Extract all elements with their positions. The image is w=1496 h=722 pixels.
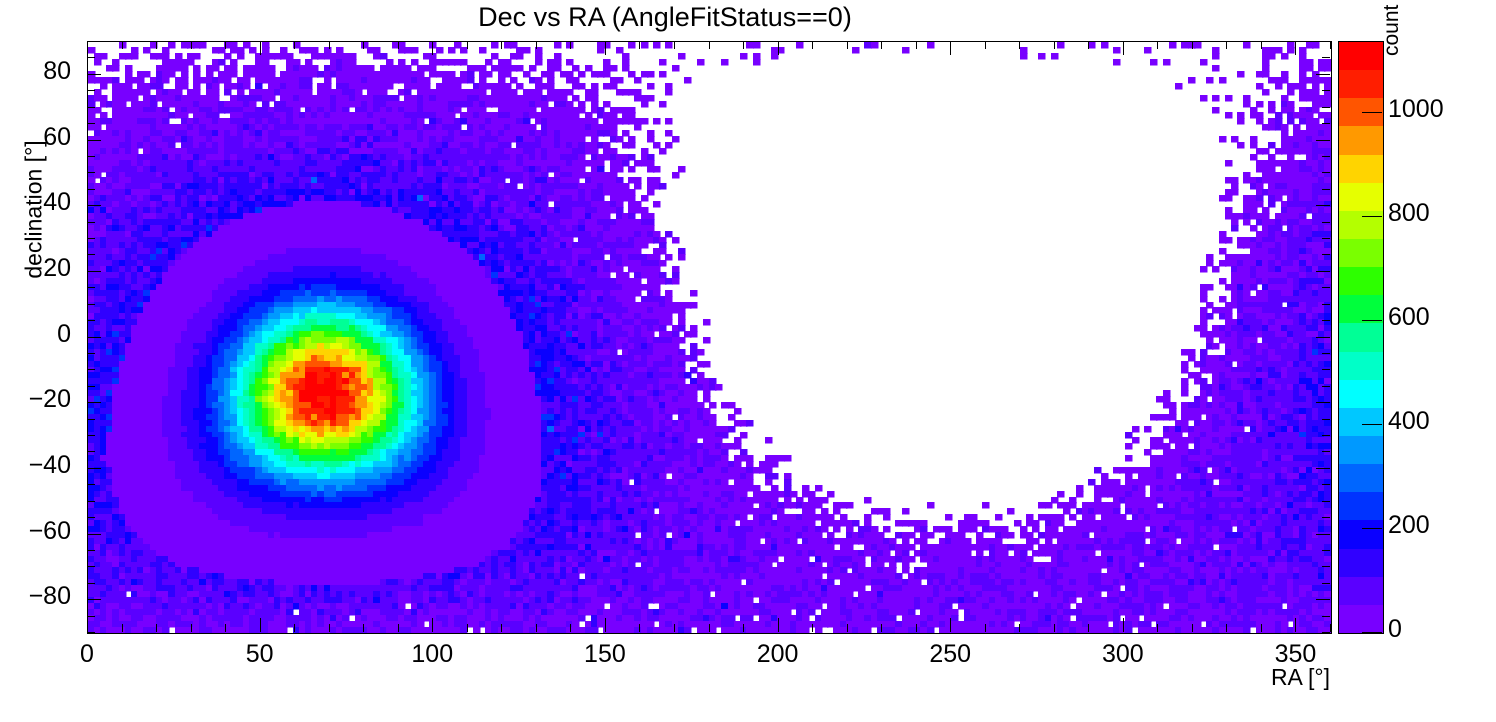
y-tick-right xyxy=(1316,468,1330,469)
y-tick xyxy=(87,566,95,567)
y-tick xyxy=(87,353,95,354)
x-tick-top xyxy=(1226,41,1227,49)
x-tick xyxy=(432,618,433,632)
x-tick-top xyxy=(225,41,226,49)
x-tick xyxy=(87,618,88,632)
x-tick xyxy=(1330,624,1331,632)
y-tick xyxy=(87,287,95,288)
palette-tick xyxy=(1362,320,1382,321)
x-tick xyxy=(122,624,123,632)
x-tick-top xyxy=(329,41,330,49)
x-tick xyxy=(156,624,157,632)
x-tick xyxy=(398,624,399,632)
x-tick-top xyxy=(363,41,364,49)
palette-tick-label: 200 xyxy=(1388,511,1430,540)
palette-band xyxy=(1339,408,1383,436)
x-tick-top xyxy=(1330,41,1331,49)
x-tick-top xyxy=(674,41,675,49)
x-tick-top xyxy=(1157,41,1158,49)
x-tick-top xyxy=(950,41,951,55)
x-tick xyxy=(225,624,226,632)
palette-band xyxy=(1339,126,1383,154)
y-tick xyxy=(87,435,95,436)
palette-tick xyxy=(1362,528,1382,529)
y-tick-right xyxy=(1316,205,1330,206)
x-tick-top xyxy=(467,41,468,49)
x-tick xyxy=(916,624,917,632)
x-tick-top xyxy=(1054,41,1055,49)
y-tick-right xyxy=(1316,74,1330,75)
x-axis-title: RA [°] xyxy=(1271,664,1330,691)
x-tick xyxy=(1054,624,1055,632)
z-axis-title: count xyxy=(1380,0,1404,56)
y-tick-right xyxy=(1322,57,1330,58)
y-tick xyxy=(87,402,101,403)
x-tick xyxy=(605,618,606,632)
y-tick xyxy=(87,468,101,469)
y-tick-right xyxy=(1316,599,1330,600)
y-tick xyxy=(87,222,95,223)
x-tick-top xyxy=(536,41,537,49)
x-tick-top xyxy=(1088,41,1089,49)
x-tick xyxy=(674,624,675,632)
x-tick xyxy=(570,624,571,632)
x-tick-top xyxy=(1123,41,1124,55)
y-tick xyxy=(87,172,95,173)
x-tick-top xyxy=(847,41,848,49)
x-tick xyxy=(709,624,710,632)
root-canvas: Dec vs RA (AngleFitStatus==0) 0501001502… xyxy=(0,0,1496,722)
y-tick xyxy=(87,419,95,420)
palette-band xyxy=(1339,70,1383,98)
y-tick xyxy=(87,369,95,370)
y-tick-right xyxy=(1322,616,1330,617)
y-tick xyxy=(87,304,95,305)
y-tick xyxy=(87,320,95,321)
palette-tick-label: 400 xyxy=(1388,407,1430,436)
x-tick xyxy=(1123,618,1124,632)
x-tick xyxy=(1157,624,1158,632)
y-tick xyxy=(87,632,95,633)
palette-band xyxy=(1339,577,1383,605)
y-tick-right xyxy=(1316,140,1330,141)
x-tick-top xyxy=(432,41,433,55)
y-tick xyxy=(87,484,95,485)
x-tick-top xyxy=(122,41,123,49)
palette-band xyxy=(1339,464,1383,492)
y-tick-right xyxy=(1322,189,1330,190)
x-tick-top xyxy=(1192,41,1193,49)
y-tick xyxy=(87,271,101,272)
y-tick-label: 80 xyxy=(0,57,71,86)
palette-band xyxy=(1339,155,1383,183)
palette-tick-label: 1000 xyxy=(1388,95,1444,124)
y-tick-right xyxy=(1316,534,1330,535)
palette-band xyxy=(1339,520,1383,548)
x-tick xyxy=(1019,624,1020,632)
page-title: Dec vs RA (AngleFitStatus==0) xyxy=(0,2,1330,33)
y-tick xyxy=(87,238,95,239)
y-tick xyxy=(87,156,95,157)
palette-band xyxy=(1339,492,1383,520)
y-tick-label: −60 xyxy=(0,517,71,546)
y-tick-right xyxy=(1316,271,1330,272)
y-tick xyxy=(87,337,101,338)
x-tick-label: 150 xyxy=(545,640,665,669)
y-tick-right xyxy=(1322,419,1330,420)
y-tick-right xyxy=(1322,123,1330,124)
y-tick-right xyxy=(1322,386,1330,387)
x-tick xyxy=(1295,618,1296,632)
y-tick xyxy=(87,386,95,387)
y-tick xyxy=(87,583,95,584)
y-tick-right xyxy=(1322,451,1330,452)
palette-tick xyxy=(1362,112,1382,113)
palette-band xyxy=(1339,605,1383,633)
x-tick xyxy=(1088,624,1089,632)
x-tick-label: 50 xyxy=(200,640,320,669)
x-tick xyxy=(536,624,537,632)
x-tick-label: 200 xyxy=(718,640,838,669)
palette-tick xyxy=(1362,216,1382,217)
x-tick xyxy=(467,624,468,632)
x-tick-top xyxy=(778,41,779,55)
y-tick xyxy=(87,140,101,141)
x-tick xyxy=(329,624,330,632)
y-tick xyxy=(87,550,95,551)
y-axis-title: declination [°] xyxy=(21,90,48,330)
y-tick xyxy=(87,123,95,124)
heatmap-canvas xyxy=(88,42,1331,633)
y-tick xyxy=(87,254,95,255)
y-tick-right xyxy=(1322,172,1330,173)
x-tick xyxy=(294,624,295,632)
x-tick xyxy=(260,618,261,632)
y-tick-right xyxy=(1322,320,1330,321)
x-tick xyxy=(191,624,192,632)
palette-tick xyxy=(1362,424,1382,425)
x-tick-top xyxy=(1019,41,1020,49)
x-tick-top xyxy=(1295,41,1296,55)
x-tick xyxy=(812,624,813,632)
x-tick-top xyxy=(709,41,710,49)
y-tick xyxy=(87,451,95,452)
x-tick-label: 100 xyxy=(372,640,492,669)
y-tick-right xyxy=(1322,517,1330,518)
y-tick xyxy=(87,57,95,58)
y-tick xyxy=(87,41,95,42)
y-tick-right xyxy=(1322,484,1330,485)
y-tick-label: −40 xyxy=(0,451,71,480)
y-tick-right xyxy=(1322,287,1330,288)
palette-band xyxy=(1339,183,1383,211)
y-tick-right xyxy=(1322,369,1330,370)
x-tick-label: 250 xyxy=(890,640,1010,669)
y-tick-right xyxy=(1322,435,1330,436)
y-tick xyxy=(87,107,95,108)
x-tick xyxy=(847,624,848,632)
x-tick-top xyxy=(743,41,744,49)
y-tick-right xyxy=(1322,254,1330,255)
y-tick-right xyxy=(1322,583,1330,584)
y-tick-right xyxy=(1322,304,1330,305)
x-tick-label: 300 xyxy=(1063,640,1183,669)
y-tick xyxy=(87,517,95,518)
palette-band xyxy=(1339,323,1383,351)
x-tick xyxy=(1261,624,1262,632)
x-tick-top xyxy=(294,41,295,49)
y-tick-right xyxy=(1322,90,1330,91)
y-tick xyxy=(87,616,95,617)
x-tick-top xyxy=(985,41,986,49)
x-tick xyxy=(881,624,882,632)
x-tick xyxy=(1226,624,1227,632)
color-scale-bar xyxy=(1338,41,1384,634)
y-tick-right xyxy=(1322,238,1330,239)
x-tick xyxy=(501,624,502,632)
palette-tick-label: 600 xyxy=(1388,303,1430,332)
y-tick xyxy=(87,599,101,600)
x-tick-top xyxy=(605,41,606,55)
x-tick-top xyxy=(570,41,571,49)
x-tick xyxy=(985,624,986,632)
y-tick xyxy=(87,501,95,502)
x-tick xyxy=(778,618,779,632)
palette-band xyxy=(1339,549,1383,577)
palette-band xyxy=(1339,352,1383,380)
y-tick-right xyxy=(1322,156,1330,157)
y-tick-right xyxy=(1322,632,1330,633)
x-tick xyxy=(950,618,951,632)
x-tick-top xyxy=(501,41,502,49)
x-tick-top xyxy=(812,41,813,49)
x-tick-top xyxy=(1261,41,1262,49)
y-tick xyxy=(87,205,101,206)
y-tick-right xyxy=(1322,107,1330,108)
palette-band xyxy=(1339,239,1383,267)
palette-tick-label: 0 xyxy=(1388,615,1402,644)
x-tick xyxy=(1192,624,1193,632)
y-tick-right xyxy=(1322,41,1330,42)
y-tick-right xyxy=(1316,402,1330,403)
y-tick-right xyxy=(1316,337,1330,338)
palette-band xyxy=(1339,436,1383,464)
x-tick-top xyxy=(398,41,399,49)
y-tick-right xyxy=(1322,566,1330,567)
x-tick-top xyxy=(260,41,261,55)
y-tick xyxy=(87,534,101,535)
y-tick xyxy=(87,189,95,190)
y-tick-right xyxy=(1322,222,1330,223)
y-tick-label: −20 xyxy=(0,385,71,414)
x-tick-top xyxy=(639,41,640,49)
x-tick-top xyxy=(881,41,882,49)
palette-tick-label: 800 xyxy=(1388,199,1430,228)
x-tick xyxy=(363,624,364,632)
palette-band xyxy=(1339,380,1383,408)
palette-bands xyxy=(1339,42,1383,633)
x-tick-top xyxy=(916,41,917,49)
y-tick-right xyxy=(1322,353,1330,354)
palette-tick xyxy=(1362,632,1382,633)
x-tick-top xyxy=(156,41,157,49)
x-tick xyxy=(639,624,640,632)
y-tick-right xyxy=(1322,550,1330,551)
y-tick xyxy=(87,90,95,91)
x-tick xyxy=(743,624,744,632)
palette-band xyxy=(1339,42,1383,70)
palette-band xyxy=(1339,267,1383,295)
x-tick-top xyxy=(191,41,192,49)
x-tick-label: 0 xyxy=(27,640,147,669)
y-tick xyxy=(87,74,101,75)
y-tick-right xyxy=(1322,501,1330,502)
x-tick-top xyxy=(87,41,88,55)
y-tick-label: −80 xyxy=(0,582,71,611)
